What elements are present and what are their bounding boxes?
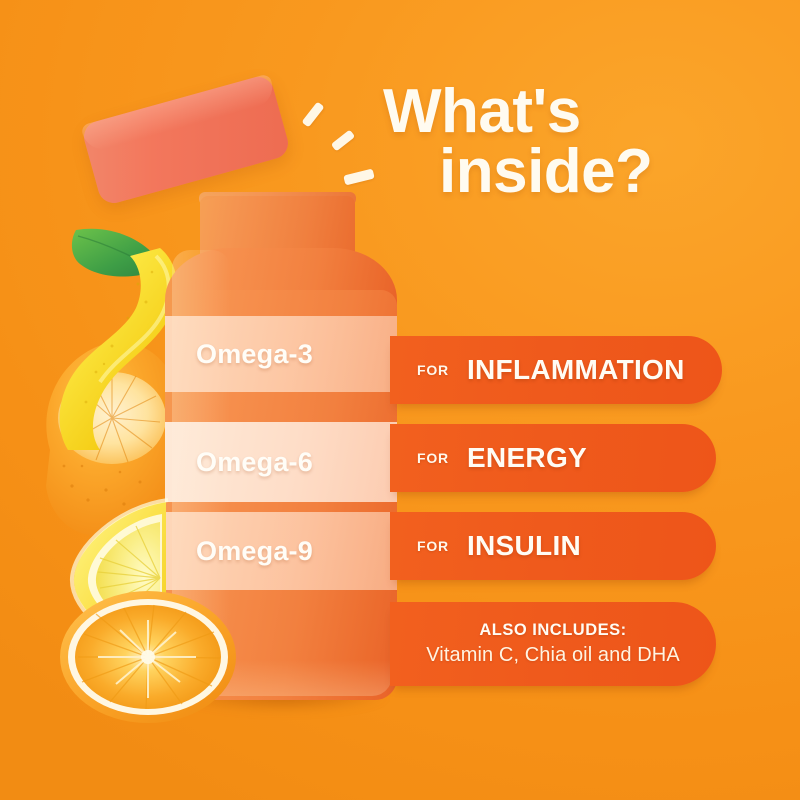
for-label-1: FOR [417,450,449,466]
for-label-2: FOR [417,538,449,554]
benefit-label-0: INFLAMMATION [467,354,685,386]
page-title: What's inside? [383,82,653,202]
benefit-pill-energy: FOR ENERGY [390,424,716,492]
benefit-label-1: ENERGY [467,442,587,474]
ingredient-label-2: Omega-9 [196,536,313,567]
orange-half-slice [58,588,238,726]
also-includes-items: Vitamin C, Chia oil and DHA [426,644,680,667]
title-line-1: What's [383,77,581,146]
label-band-omega-9: Omega-9 [165,512,397,590]
benefit-pill-inflammation: FOR INFLAMMATION [390,336,722,404]
for-label-0: FOR [417,362,449,378]
product-poster: What's inside? Omega-3 Omega-6 Omega-9 F… [0,0,800,800]
also-includes-pill: ALSO INCLUDES: Vitamin C, Chia oil and D… [390,602,716,686]
benefit-pill-insulin: FOR INSULIN [390,512,716,580]
ingredient-label-1: Omega-6 [196,447,313,478]
label-band-omega-3: Omega-3 [165,316,397,392]
benefit-label-2: INSULIN [467,530,581,562]
also-includes-heading: ALSO INCLUDES: [479,621,626,640]
title-line-2: inside? [439,142,653,202]
ingredient-label-0: Omega-3 [196,339,313,370]
label-band-omega-6: Omega-6 [165,422,397,502]
